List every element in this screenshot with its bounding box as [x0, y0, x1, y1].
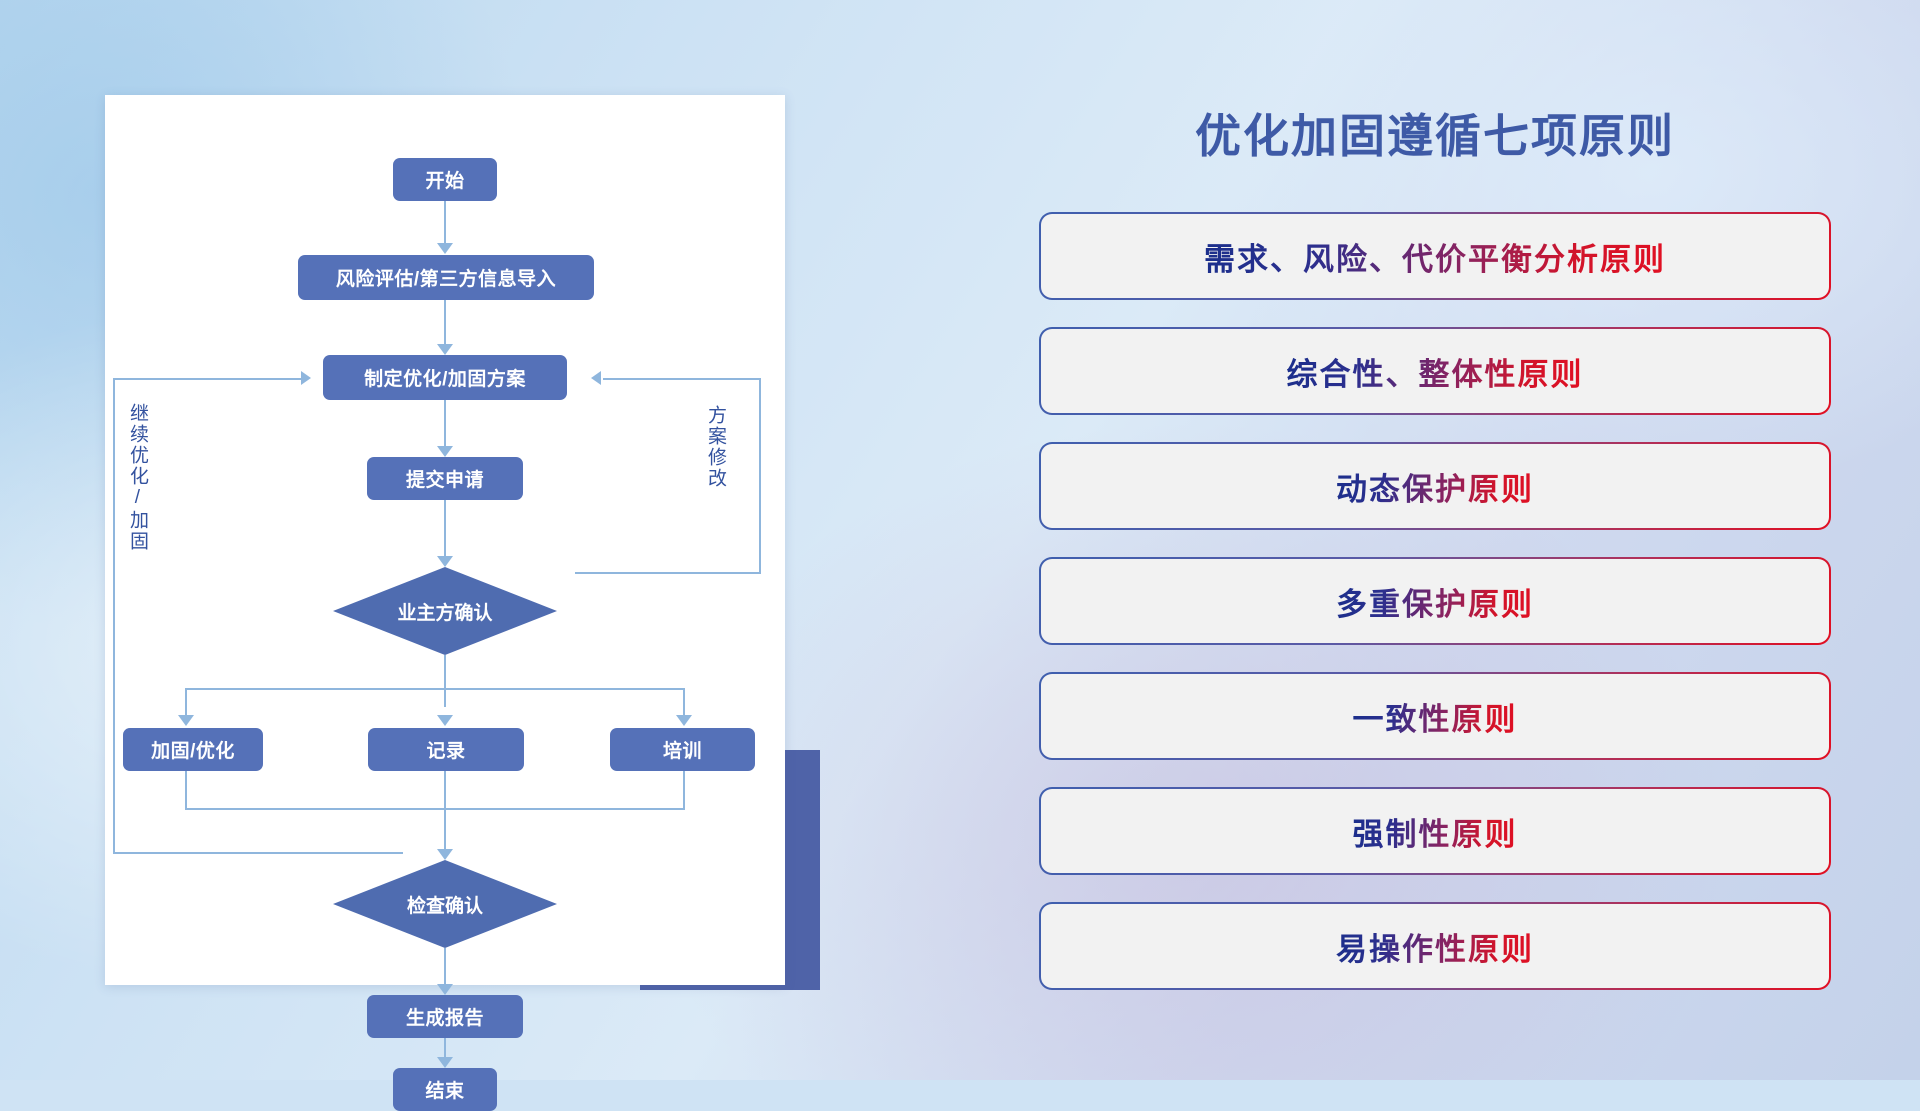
connector-training-down	[683, 771, 685, 810]
connector-right-loop-bottom	[575, 572, 761, 574]
connector-plan-to-submit	[444, 400, 446, 452]
arrow-start-to-risk	[437, 243, 453, 254]
principle-card[interactable]: 综合性、整体性原则	[1039, 327, 1831, 415]
principle-card-inner: 易操作性原则	[1041, 904, 1829, 988]
principle-label: 综合性、整体性原则	[1287, 349, 1584, 394]
connector-left-loop-top	[113, 378, 303, 380]
principle-card-inner: 动态保护原则	[1041, 444, 1829, 528]
arrow-check-to-report	[437, 984, 453, 995]
principle-card[interactable]: 需求、风险、代价平衡分析原则	[1039, 212, 1831, 300]
flowchart-panel: 开始 风险评估/第三方信息导入 制定优化/加固方案 继续优化/加固 方案修改 提…	[105, 95, 785, 985]
principle-label: 需求、风险、代价平衡分析原则	[1204, 234, 1666, 279]
principle-card[interactable]: 强制性原则	[1039, 787, 1831, 875]
flow-node-record[interactable]: 记录	[368, 728, 524, 771]
connector-right-loop-vertical	[759, 378, 761, 574]
connector-left-loop-vertical	[113, 378, 115, 853]
principle-card-inner: 综合性、整体性原则	[1041, 329, 1829, 413]
principle-label: 强制性原则	[1353, 809, 1518, 854]
connector-owner-down	[444, 655, 446, 707]
principle-card-inner: 强制性原则	[1041, 789, 1829, 873]
principle-card[interactable]: 一致性原则	[1039, 672, 1831, 760]
connector-branch-bus	[185, 688, 685, 690]
connector-right-loop-top	[603, 378, 761, 380]
connector-submit-to-owner	[444, 500, 446, 562]
connector-reinforce-down	[185, 771, 187, 810]
flow-node-training[interactable]: 培训	[610, 728, 755, 771]
connector-merge-bus	[185, 808, 685, 810]
principle-label: 易操作性原则	[1336, 924, 1534, 969]
arrow-right-loop-into-plan	[591, 371, 601, 385]
flow-node-owner-confirm[interactable]: 业主方确认	[333, 567, 557, 655]
arrow-left-loop-into-plan	[301, 371, 311, 385]
arrow-submit-to-owner	[437, 556, 453, 567]
connector-left-loop-bottom	[113, 852, 403, 854]
principle-card[interactable]: 易操作性原则	[1039, 902, 1831, 990]
principles-panel: 优化加固遵循七项原则 需求、风险、代价平衡分析原则 综合性、整体性原则 动态保护…	[1020, 100, 1850, 1000]
arrow-to-check-confirm	[437, 849, 453, 860]
principle-card-inner: 多重保护原则	[1041, 559, 1829, 643]
flow-node-reinforce[interactable]: 加固/优化	[123, 728, 263, 771]
flow-label-right-loop: 方案修改	[705, 405, 725, 489]
flow-node-end[interactable]: 结束	[393, 1068, 497, 1111]
arrow-report-to-end	[437, 1057, 453, 1068]
flow-node-submit[interactable]: 提交申请	[367, 457, 523, 500]
principle-label: 一致性原则	[1353, 694, 1518, 739]
connector-record-to-check	[444, 771, 446, 855]
principle-card-inner: 一致性原则	[1041, 674, 1829, 758]
flow-node-check-confirm[interactable]: 检查确认	[333, 860, 557, 948]
flow-node-risk-assessment[interactable]: 风险评估/第三方信息导入	[298, 255, 594, 300]
arrow-plan-to-submit	[437, 446, 453, 457]
principle-label: 多重保护原则	[1336, 579, 1534, 624]
principle-label: 动态保护原则	[1336, 464, 1534, 509]
principle-card-inner: 需求、风险、代价平衡分析原则	[1041, 214, 1829, 298]
arrow-to-training	[676, 715, 692, 726]
principle-card[interactable]: 多重保护原则	[1039, 557, 1831, 645]
flow-node-plan[interactable]: 制定优化/加固方案	[323, 355, 567, 400]
panel-title: 优化加固遵循七项原则	[1020, 100, 1850, 166]
flow-node-report-box[interactable]: 生成报告	[367, 995, 523, 1038]
arrow-to-record	[437, 715, 453, 726]
arrow-risk-to-plan	[437, 344, 453, 355]
arrow-to-reinforce	[178, 715, 194, 726]
flow-node-start[interactable]: 开始	[393, 158, 497, 201]
connector-start-to-risk	[444, 201, 446, 249]
flow-label-left-loop: 继续优化/加固	[127, 403, 147, 552]
connector-risk-to-plan	[444, 300, 446, 350]
principle-card[interactable]: 动态保护原则	[1039, 442, 1831, 530]
